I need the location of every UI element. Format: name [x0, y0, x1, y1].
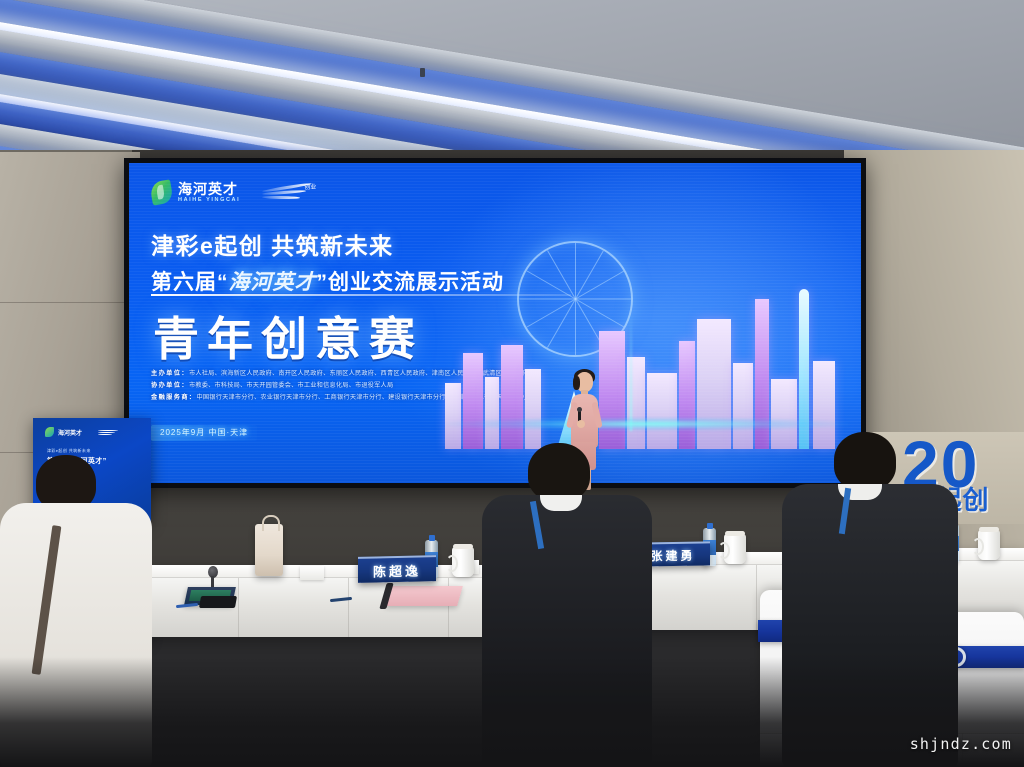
tea-mug: [452, 547, 474, 577]
logo-english-name: HAIHE YINGCAI: [178, 197, 240, 203]
watermark: shjndz.com: [910, 735, 1012, 753]
haihe-logo: 海河英才 HAIHE YINGCAI: [151, 181, 240, 204]
tea-mug: [978, 530, 1000, 560]
shirt-collar: [540, 495, 582, 511]
leaf-icon: [149, 179, 174, 205]
bird-wings-icon: 创业: [262, 182, 316, 204]
organizer-label: 主办单位：: [151, 370, 189, 377]
event-photo-scene: 海河英才 HAIHE YINGCAI 创业 津彩e起创 共筑新未来 第六届“海河…: [0, 0, 1024, 767]
skyline-graphic: [437, 219, 857, 449]
foreground-shadow: [0, 657, 1024, 767]
organizer-label: 金融服务商：: [151, 394, 197, 401]
light-ray: [630, 311, 632, 431]
person-head: [834, 432, 896, 490]
logo-chinese-name: 海河英才: [178, 182, 240, 197]
quote-close: ”: [317, 271, 329, 294]
side-banner-logo: 海河英才: [45, 427, 120, 437]
ground-glow: [445, 417, 848, 431]
leaf-icon: [45, 427, 54, 437]
secondary-mark-label: 创业: [304, 182, 316, 191]
subtitle-prefix: 第六届: [151, 271, 217, 294]
desk-microphone-icon: [208, 566, 218, 578]
side-banner-line-1: 津彩e起创 共筑新未来: [47, 448, 91, 454]
screen-slogan: 津彩e起创 共筑新未来: [151, 227, 394, 261]
presenter-hand: [577, 420, 585, 428]
subtitle-highlight: 海河英才: [229, 271, 317, 294]
presenter-hair-side: [573, 376, 580, 390]
screen-date-location: 2025年9月 中国·天津: [151, 425, 257, 441]
nameplate: 陈超逸: [358, 555, 436, 583]
card-tent: [300, 566, 324, 580]
mobile-phone: [199, 596, 237, 608]
ceiling-sensor-icon: [420, 68, 425, 77]
nameplate-text: 陈超逸: [373, 560, 421, 580]
side-banner-logo-text: 海河英才: [58, 428, 82, 437]
event-logo: 海河英才 HAIHE YINGCAI 创业: [151, 181, 316, 204]
quote-open: “: [217, 271, 229, 294]
led-screen: 海河英才 HAIHE YINGCAI 创业 津彩e起创 共筑新未来 第六届“海河…: [129, 163, 861, 483]
organizer-value: 市教委、市科技局、市天开园管委会、市工业和信息化局、市退役军人局: [189, 382, 393, 389]
tea-mug: [724, 534, 746, 564]
screen-main-title: 青年创意赛: [153, 303, 423, 369]
ceiling: [0, 0, 1024, 170]
organizer-label: 协办单位：: [151, 382, 189, 389]
document-folder: [385, 586, 463, 606]
handbag: [255, 524, 283, 576]
bird-wings-icon: [98, 428, 120, 436]
nameplate-text: 张建勇: [650, 546, 695, 564]
led-screen-frame: 海河英才 HAIHE YINGCAI 创业 津彩e起创 共筑新未来 第六届“海河…: [124, 158, 866, 488]
person-head: [528, 443, 590, 501]
